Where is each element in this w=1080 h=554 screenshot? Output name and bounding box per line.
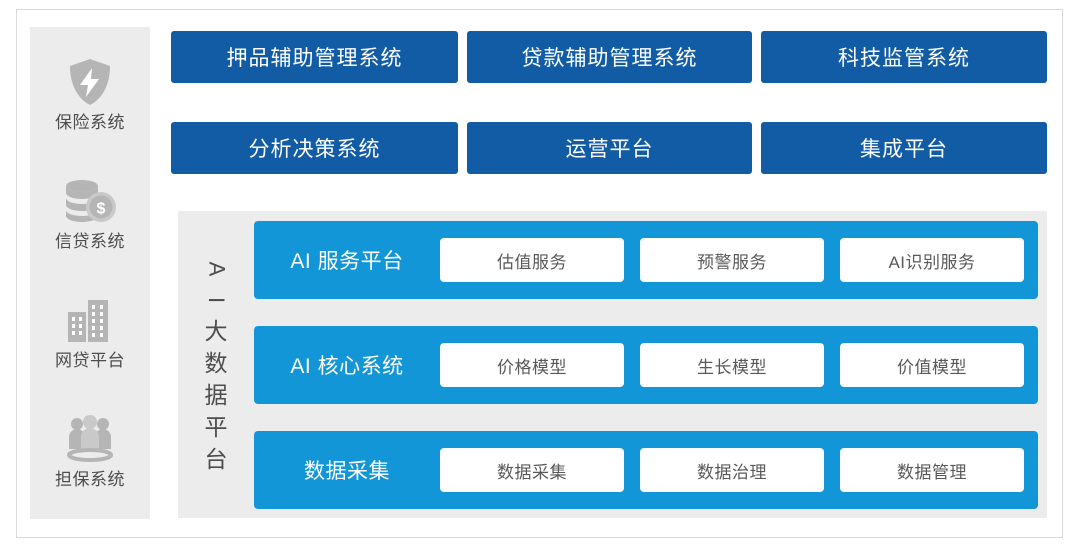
system-row-2: 分析决策系统 运营平台 集成平台 [171, 122, 1047, 174]
ai-card-valuation-service[interactable]: 估值服务 [440, 238, 624, 282]
ai-card-group: 数据采集 数据治理 数据管理 [440, 448, 1024, 492]
ai-row-title: AI 核心系统 [254, 350, 440, 380]
system-row-1: 押品辅助管理系统 贷款辅助管理系统 科技监管系统 [171, 31, 1047, 83]
ai-row-title: AI 服务平台 [254, 245, 440, 275]
vertical-char: 数 [205, 352, 228, 375]
ai-bigdata-platform-panel: A I 大 数 据 平 台 AI 服务平台 估值服务 预警服务 AI识别服务 A… [178, 211, 1047, 518]
ai-card-data-management[interactable]: 数据管理 [840, 448, 1024, 492]
vertical-char: 大 [205, 320, 228, 343]
architecture-diagram: 保险系统 $ 信贷系统 [0, 0, 1080, 554]
ai-platform-vertical-title: A I 大 数 据 平 台 [183, 219, 249, 510]
ai-card-group: 估值服务 预警服务 AI识别服务 [440, 238, 1024, 282]
vertical-char: I [205, 297, 227, 303]
sidebar-systems-panel: 保险系统 $ 信贷系统 [30, 27, 150, 519]
sidebar-item-guarantee[interactable]: 担保系统 [30, 413, 150, 490]
sidebar-item-label: 担保系统 [55, 471, 125, 490]
ai-card-growth-model[interactable]: 生长模型 [640, 343, 824, 387]
ai-card-price-model[interactable]: 价格模型 [440, 343, 624, 387]
sidebar-item-label: 信贷系统 [55, 233, 125, 252]
system-bar-tech-supervision[interactable]: 科技监管系统 [761, 31, 1047, 83]
ai-card-group: 价格模型 生长模型 价值模型 [440, 343, 1024, 387]
system-bar-analysis-decision[interactable]: 分析决策系统 [171, 122, 458, 174]
sidebar-item-online-lending[interactable]: 网贷平台 [30, 294, 150, 371]
ai-card-value-model[interactable]: 价值模型 [840, 343, 1024, 387]
ai-row-title: 数据采集 [254, 455, 440, 485]
system-bar-collateral-aux-mgmt[interactable]: 押品辅助管理系统 [171, 31, 458, 83]
system-bar-integration-platform[interactable]: 集成平台 [761, 122, 1047, 174]
system-bar-loan-aux-mgmt[interactable]: 贷款辅助管理系统 [467, 31, 752, 83]
svg-text:$: $ [97, 201, 106, 218]
shield-bolt-icon [63, 56, 117, 108]
system-bar-operations-platform[interactable]: 运营平台 [467, 122, 752, 174]
people-group-icon [63, 413, 117, 465]
vertical-char: 台 [205, 448, 228, 471]
sidebar-item-credit[interactable]: $ 信贷系统 [30, 175, 150, 252]
ai-row-service-platform: AI 服务平台 估值服务 预警服务 AI识别服务 [254, 221, 1038, 299]
ai-card-data-governance[interactable]: 数据治理 [640, 448, 824, 492]
buildings-icon [63, 294, 117, 346]
coins-dollar-icon: $ [63, 175, 117, 227]
ai-card-data-collection[interactable]: 数据采集 [440, 448, 624, 492]
vertical-char: A [205, 262, 227, 277]
ai-card-alert-service[interactable]: 预警服务 [640, 238, 824, 282]
vertical-char: 据 [205, 384, 228, 407]
ai-platform-rows: AI 服务平台 估值服务 预警服务 AI识别服务 AI 核心系统 价格模型 生长… [254, 221, 1038, 509]
ai-card-recognition-service[interactable]: AI识别服务 [840, 238, 1024, 282]
ai-row-core-system: AI 核心系统 价格模型 生长模型 价值模型 [254, 326, 1038, 404]
vertical-char: 平 [205, 416, 228, 439]
sidebar-item-insurance[interactable]: 保险系统 [30, 56, 150, 133]
ai-row-data-collection: 数据采集 数据采集 数据治理 数据管理 [254, 431, 1038, 509]
sidebar-item-label: 网贷平台 [55, 352, 125, 371]
sidebar-item-label: 保险系统 [55, 114, 125, 133]
